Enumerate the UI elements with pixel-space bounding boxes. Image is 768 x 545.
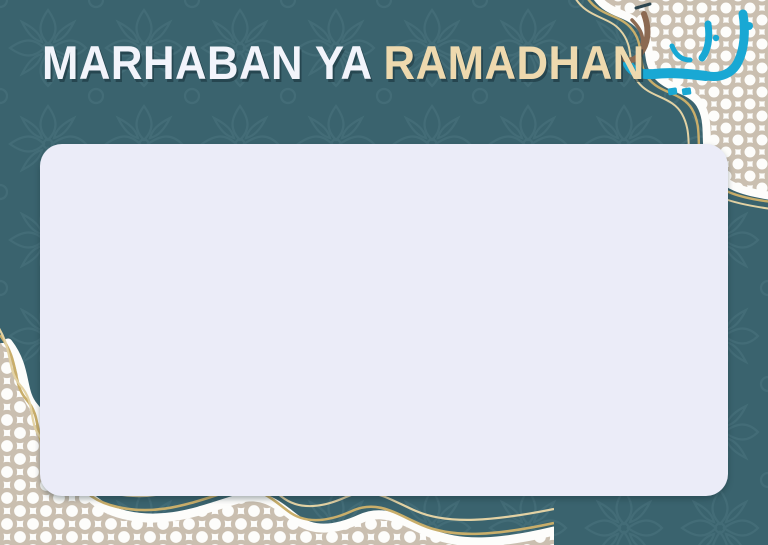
headline-word-ramadhan: RAMADHAN [384, 36, 645, 89]
page-title: MARHABAN YA RAMADHAN [42, 38, 645, 88]
content-card [40, 144, 728, 496]
ramadhan-greeting-poster: MARHABAN YA RAMADHAN [0, 0, 768, 545]
content-card-body [40, 144, 728, 496]
headline-word-ya: YA [315, 36, 371, 89]
headline-word-marhaban: MARHABAN [42, 36, 303, 89]
